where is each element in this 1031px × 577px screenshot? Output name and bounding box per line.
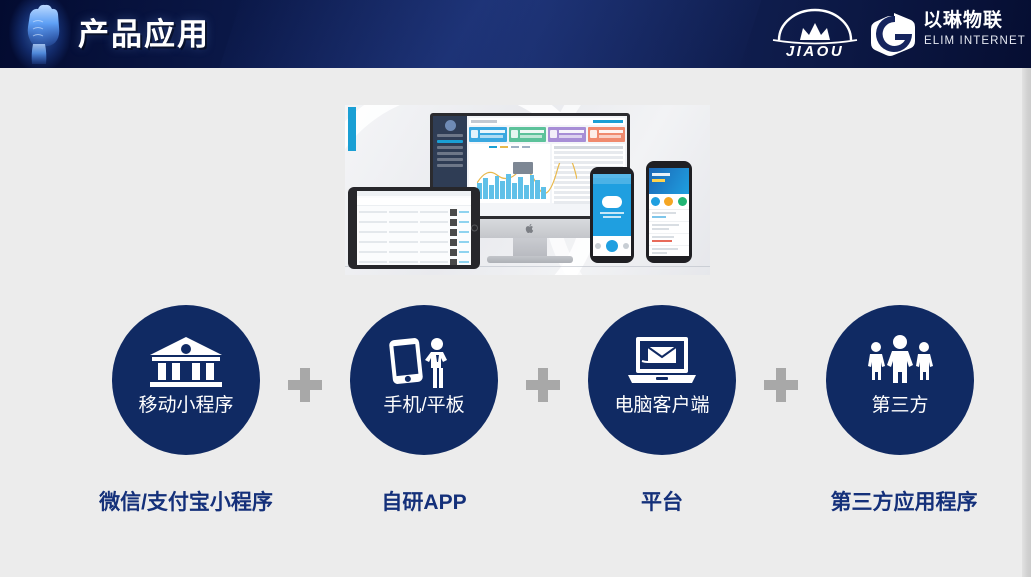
pillar-mobile[interactable]: 手机/平板 bbox=[350, 305, 498, 455]
jiaou-wordmark: JIAOU bbox=[767, 44, 863, 60]
pillar-mini-program[interactable]: 移动小程序 bbox=[112, 305, 260, 455]
bank-building-icon bbox=[148, 335, 224, 394]
phone-person-icon bbox=[389, 335, 459, 396]
apple-logo-icon bbox=[526, 223, 535, 234]
caption-mini-program: 微信/支付宝小程序 bbox=[66, 488, 306, 518]
elim-name-en: ELIM INTERNET bbox=[924, 34, 1026, 48]
pillar-bubble-label: 电脑客户端 bbox=[588, 393, 736, 419]
page-title: 产品应用 bbox=[78, 16, 210, 54]
caption-desktop: 平台 bbox=[542, 488, 782, 518]
g-hexagon-icon bbox=[871, 11, 917, 57]
tablet-device bbox=[348, 187, 480, 269]
elim-logo: 以琳物联 ELIM INTERNET bbox=[871, 9, 1017, 59]
pillar-row: 移动小程序 手机/平板 bbox=[0, 305, 1031, 465]
pillar-bubble-label: 移动小程序 bbox=[112, 393, 260, 419]
header-sheen bbox=[206, 0, 775, 68]
pillar-third-party[interactable]: 第三方 bbox=[826, 305, 974, 455]
pillar-desktop[interactable]: 电脑客户端 bbox=[588, 305, 736, 455]
dashboard-chart bbox=[469, 144, 550, 203]
fist-icon bbox=[12, 2, 68, 68]
caption-mobile: 自研APP bbox=[304, 488, 544, 518]
plus-separator-2 bbox=[526, 368, 560, 402]
elim-name-cn: 以琳物联 bbox=[923, 10, 1003, 32]
phone-blue-device bbox=[590, 167, 634, 263]
pillar-bubble-label: 第三方 bbox=[826, 393, 974, 419]
sunrise-crown-icon bbox=[767, 8, 863, 46]
slide-header: 产品应用 JIAOU 以琳物联 ELIM INTERNET bbox=[0, 0, 1031, 68]
multi-device-dashboard-image bbox=[345, 105, 710, 275]
plus-separator-3 bbox=[764, 368, 798, 402]
accent-bar bbox=[348, 107, 356, 151]
caption-row: 微信/支付宝小程序 自研APP 平台 第三方应用程序 bbox=[0, 488, 1031, 528]
pillar-bubble-label: 手机/平板 bbox=[350, 393, 498, 419]
dashboard-stat-cards bbox=[469, 127, 625, 142]
caption-third-party: 第三方应用程序 bbox=[784, 488, 1024, 518]
three-people-icon bbox=[860, 335, 940, 396]
phone-list-device bbox=[646, 161, 692, 263]
plus-separator-1 bbox=[288, 368, 322, 402]
jiaou-logo: JIAOU bbox=[767, 8, 863, 60]
laptop-envelope-icon bbox=[624, 335, 700, 392]
